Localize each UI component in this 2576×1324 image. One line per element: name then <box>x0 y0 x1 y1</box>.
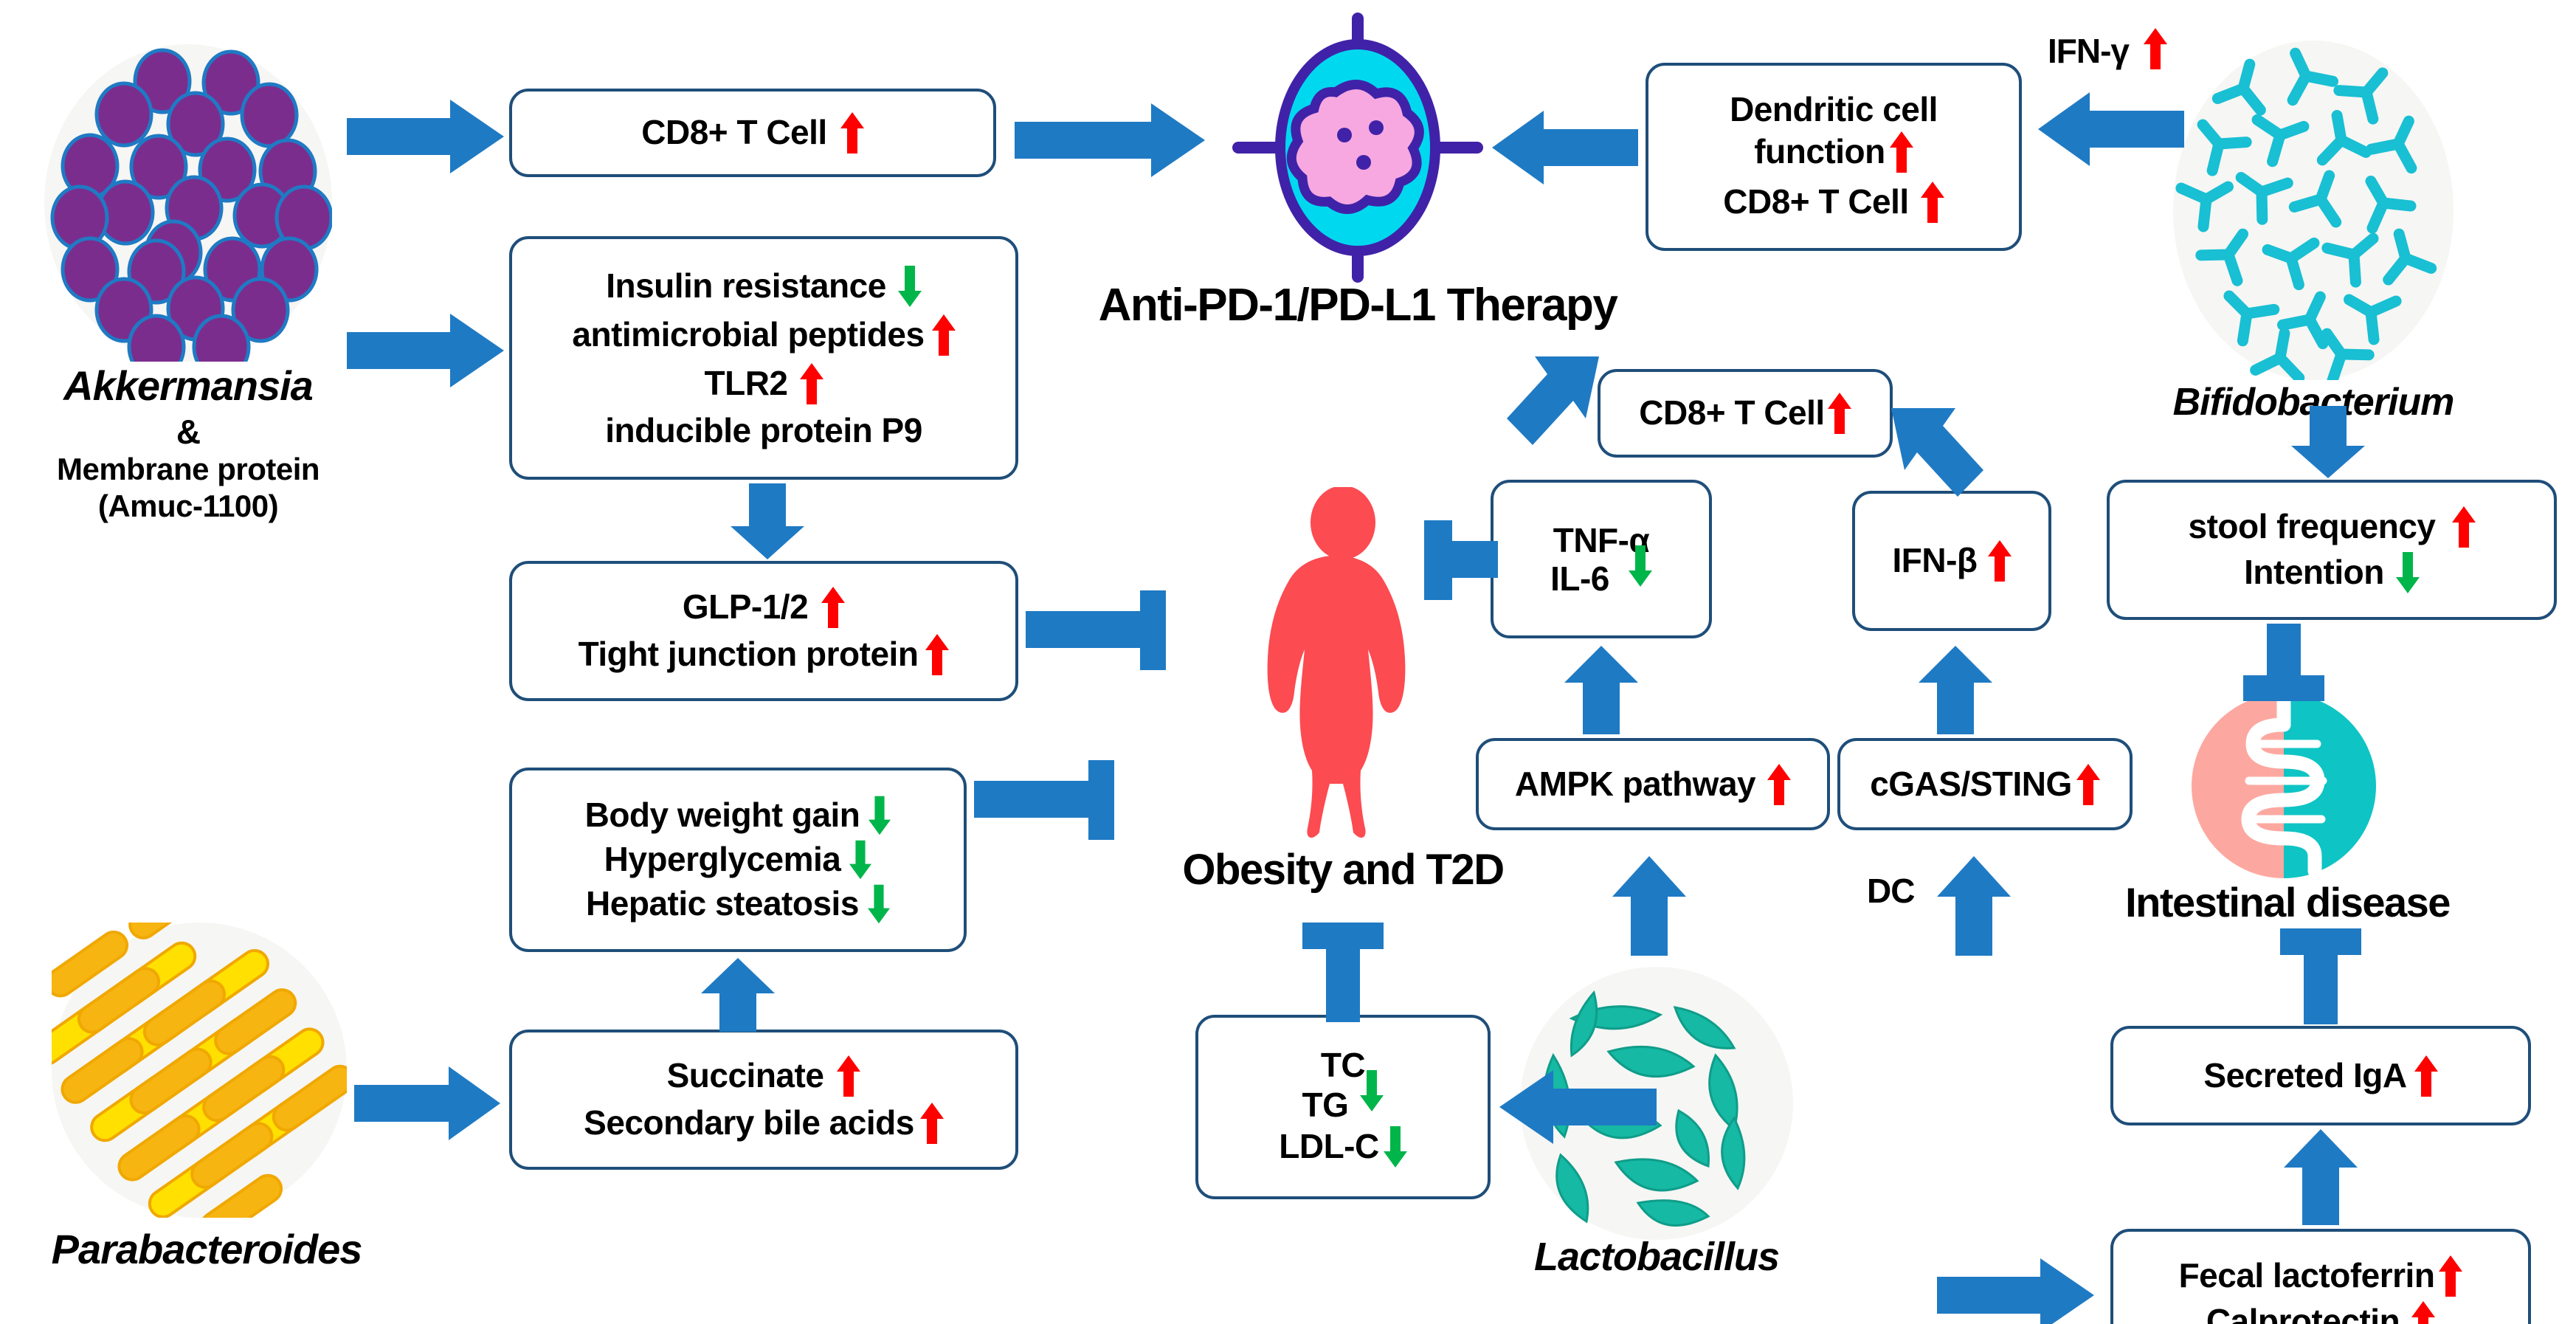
inhibitor-lipids-to-obesity <box>1302 923 1384 1022</box>
ifn-gamma-label: IFN-γ <box>2048 31 2129 71</box>
box-line: stool frequency <box>2188 506 2475 548</box>
box-line: LDL-C <box>1279 1126 1406 1168</box>
arrow-cd8-mid-to-therapy <box>1502 351 1605 458</box>
arrow-akkermansia-to-cd8 <box>347 96 505 177</box>
box-cd8-t-cell-left[interactable]: CD8+ T Cell <box>509 89 996 177</box>
parabacteroides-colony-icon <box>52 923 347 1218</box>
tumor-cell-icon <box>1225 11 1491 284</box>
box-line: Insulin resistance <box>606 266 922 307</box>
up-arrow-icon <box>2411 1301 2435 1324</box>
up-arrow-icon <box>1890 131 1913 173</box>
box-glp-tight-junction[interactable]: GLP-1/2 Tight junction protein <box>509 561 1018 701</box>
up-arrow-icon <box>1921 182 1944 223</box>
box-line: IFN-β <box>1893 540 2012 582</box>
down-arrow-icon <box>868 884 890 924</box>
box-fecal-markers[interactable]: Fecal lactoferrin Calprotectin <box>2110 1229 2531 1324</box>
inhibitor-glp-to-obesity <box>1026 590 1166 672</box>
akkermansia-ampersand: & <box>22 412 354 452</box>
box-line: AMPK pathway <box>1515 764 1791 805</box>
box-line: Secondary bile acids <box>584 1103 944 1144</box>
down-arrow-icon <box>1629 545 1652 587</box>
arrow-cd8-to-tumor-cell <box>1015 100 1206 181</box>
box-cd8-t-cell-middle[interactable]: CD8+ T Cell <box>1598 369 1893 458</box>
box-secreted-iga[interactable]: Secreted IgA <box>2110 1026 2531 1125</box>
down-arrow-icon <box>2396 552 2420 593</box>
arrow-dc-to-cgas-sting <box>1933 856 2014 956</box>
box-line: Dendritic cell <box>1730 91 1938 129</box>
up-arrow-icon <box>837 1055 860 1097</box>
box-line: antimicrobial peptides <box>572 314 955 356</box>
arrow-cgas-to-ifn-beta <box>1915 646 1996 734</box>
box-line: inducible protein P9 <box>605 412 922 450</box>
arrow-succinate-to-metabolic <box>697 958 778 1032</box>
box-line: GLP-1/2 <box>683 587 845 628</box>
up-arrow-icon <box>1828 393 1851 434</box>
intestine-icon <box>2192 694 2376 878</box>
up-arrow-icon <box>2144 28 2167 69</box>
box-line: Body weight gain <box>585 796 891 835</box>
box-line: cGAS/STING <box>1870 764 2100 805</box>
box-line: CD8+ T Cell <box>1639 393 1851 434</box>
down-arrow-icon <box>869 796 891 835</box>
box-line: TLR2 <box>705 363 823 404</box>
box-ampk-pathway[interactable]: AMPK pathway <box>1476 738 1830 830</box>
box-line: Secreted IgA <box>2203 1055 2437 1097</box>
arrow-lactobacillus-to-lipids <box>1498 1066 1657 1148</box>
box-tnf-il6[interactable]: TNF-α IL-6 <box>1491 480 1712 638</box>
up-arrow-icon <box>920 1103 944 1144</box>
box-lipid-profile[interactable]: TC TG LDL-C <box>1195 1015 1491 1199</box>
up-arrow-icon <box>925 634 949 675</box>
up-arrow-icon <box>800 363 823 404</box>
box-line: Intention <box>2244 552 2420 593</box>
box-akkermansia-effects[interactable]: Insulin resistance antimicrobial peptide… <box>509 236 1018 480</box>
bifidobacterium-colony-icon <box>2173 41 2454 380</box>
box-line: Calprotectin <box>2206 1301 2435 1324</box>
akkermansia-label: Akkermansia <box>22 362 354 410</box>
inhibitor-metabolic-to-obesity <box>974 760 1114 841</box>
box-metabolic-outcomes[interactable]: Body weight gain Hyperglycemia Hepatic s… <box>509 768 967 952</box>
up-arrow-icon <box>2452 506 2476 548</box>
up-arrow-icon <box>2439 1255 2462 1297</box>
arrow-ampk-to-tnf <box>1561 646 1642 734</box>
box-line: function <box>1754 131 1913 173</box>
box-line: IL-6 <box>1550 560 1652 599</box>
arrow-akkermansia-to-effects <box>347 310 505 391</box>
arrow-lactobacillus-to-fecal <box>1937 1255 2096 1324</box>
up-arrow-icon <box>840 112 864 154</box>
up-arrow-icon <box>932 314 956 356</box>
lactobacillus-label: Lactobacillus <box>1491 1234 1823 1280</box>
arrow-dendritic-to-tumor-cell <box>1491 107 1638 188</box>
arrow-lactobacillus-to-ampk <box>1609 856 1690 956</box>
up-arrow-icon <box>2076 764 2100 805</box>
box-line: Tight junction protein <box>579 634 950 675</box>
inhibitor-stool-to-intestine <box>2243 624 2324 701</box>
box-dendritic-cell[interactable]: Dendritic cell function CD8+ T Cell <box>1646 63 2022 251</box>
up-arrow-icon <box>1988 540 2012 582</box>
arrow-bifidobacterium-to-stool <box>2287 406 2369 480</box>
box-cgas-sting[interactable]: cGAS/STING <box>1837 738 2133 830</box>
parabacteroides-label: Parabacteroides <box>0 1225 413 1273</box>
up-arrow-icon <box>821 587 845 628</box>
dc-label: DC <box>1867 871 1914 911</box>
akkermansia-colony-icon <box>44 44 332 362</box>
arrow-bifidobacterium-to-dendritic <box>2037 89 2184 170</box>
inhibitor-tnf-to-obesity <box>1424 520 1498 601</box>
arrow-parabacteroides-to-succinate <box>354 1063 502 1144</box>
obesity-figure-icon <box>1232 487 1454 841</box>
box-ifn-beta[interactable]: IFN-β <box>1852 491 2051 631</box>
arrow-effects-to-glp <box>727 483 808 561</box>
up-arrow-icon <box>1767 764 1791 805</box>
arrow-fecal-to-iga <box>2280 1129 2361 1225</box>
box-line: TG <box>1302 1086 1384 1125</box>
amuc-1100-label: (Amuc-1100) <box>7 489 369 524</box>
box-line: Hyperglycemia <box>604 840 872 880</box>
box-line: Hepatic steatosis <box>586 884 890 924</box>
box-succinate-bile-acids[interactable]: Succinate Secondary bile acids <box>509 1030 1018 1170</box>
down-arrow-icon <box>898 266 922 307</box>
down-arrow-icon <box>849 840 871 880</box>
box-line: CD8+ T Cell <box>1723 182 1944 223</box>
box-line: TC <box>1321 1047 1365 1085</box>
box-stool-intention[interactable]: stool frequency Intention <box>2107 480 2557 620</box>
anti-pd1-therapy-label: Anti-PD-1/PD-L1 Therapy <box>967 279 1749 331</box>
box-line: CD8+ T Cell <box>641 112 863 154</box>
box-line: Succinate <box>667 1055 861 1097</box>
pathway-diagram-canvas: Akkermansia & Membrane protein (Amuc-110… <box>0 0 2576 1324</box>
up-arrow-icon <box>2414 1055 2438 1097</box>
obesity-t2d-label: Obesity and T2D <box>1092 845 1594 894</box>
inhibitor-iga-to-intestinal <box>2280 928 2361 1024</box>
arrow-ifn-beta-to-cd8-mid <box>1885 402 1989 509</box>
box-line: Fecal lactoferrin <box>2179 1255 2463 1297</box>
intestinal-disease-label: Intestinal disease <box>2059 878 2516 926</box>
down-arrow-icon <box>1360 1070 1384 1111</box>
membrane-protein-label: Membrane protein <box>7 452 369 487</box>
down-arrow-icon <box>1384 1126 1407 1168</box>
